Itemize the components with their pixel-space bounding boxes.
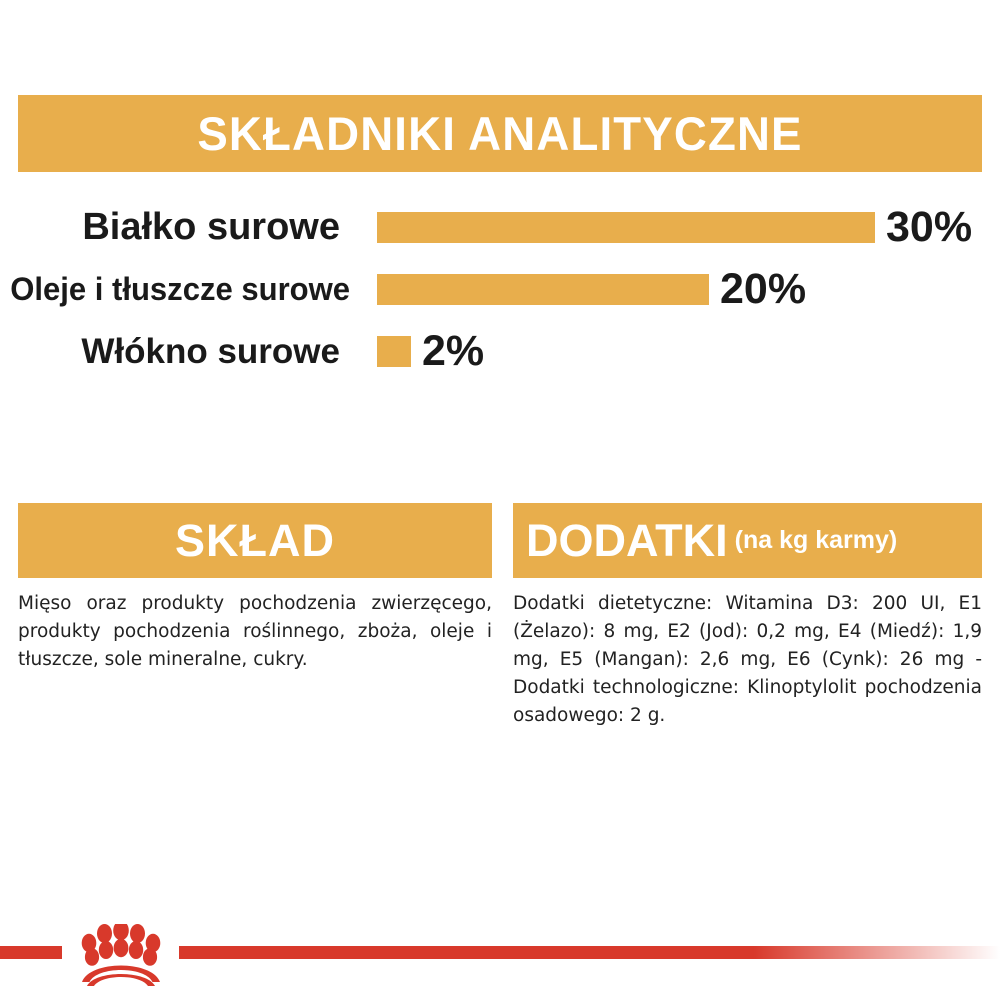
- chart-row: Oleje i tłuszcze surowe 20%: [0, 258, 1000, 320]
- footer-rule-left: [0, 946, 62, 959]
- chart-row-track: 20%: [377, 268, 806, 311]
- chart-bar-value: 20%: [720, 268, 806, 311]
- chart-bar: [377, 274, 709, 305]
- composition-text: Mięso oraz produkty pochodzenia zwierzęc…: [18, 590, 492, 674]
- composition-title: SKŁAD: [175, 518, 335, 563]
- additives-subtitle: (na kg karmy): [735, 528, 898, 553]
- chart-bar: [377, 212, 875, 243]
- analytical-constituents-chart: Białko surowe 30% Oleje i tłuszcze surow…: [0, 196, 1000, 381]
- chart-row-label: Oleje i tłuszcze surowe: [10, 273, 340, 305]
- additives-text: Dodatki dietetyczne: Witamina D3: 200 UI…: [513, 590, 982, 731]
- chart-bar-value: 30%: [886, 206, 972, 249]
- chart-row: Białko surowe 30%: [0, 196, 1000, 258]
- chart-bar-value: 2%: [422, 330, 484, 373]
- analytical-constituents-header: SKŁADNIKI ANALITYCZNE: [18, 95, 982, 172]
- chart-row-track: 30%: [377, 206, 972, 249]
- composition-header: SKŁAD: [18, 503, 492, 578]
- chart-bar: [377, 336, 411, 367]
- chart-row-track: 2%: [377, 330, 484, 373]
- chart-row: Włókno surowe 2%: [0, 320, 1000, 382]
- analytical-constituents-title: SKŁADNIKI ANALITYCZNE: [197, 110, 802, 157]
- royal-canin-crown-icon: [66, 924, 176, 986]
- additives-title: DODATKI: [526, 518, 728, 563]
- footer-rule-right: [179, 946, 1000, 959]
- chart-row-label: Włókno surowe: [0, 334, 340, 369]
- chart-row-label: Białko surowe: [0, 208, 340, 246]
- additives-header: DODATKI (na kg karmy): [513, 503, 982, 578]
- footer: [0, 918, 1000, 1000]
